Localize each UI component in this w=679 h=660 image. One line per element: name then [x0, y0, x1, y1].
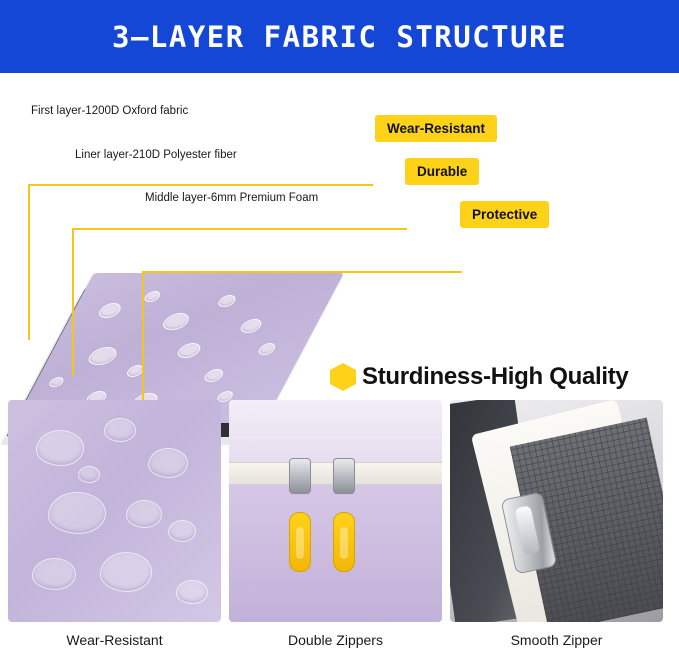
gallery-card-smooth-zipper: Smooth Zipper — [450, 400, 663, 660]
leader-line-2-vertical — [72, 228, 74, 376]
sturdiness-text: Sturdiness-High Quality — [362, 363, 628, 391]
hero-section: First layer-1200D Oxford fabric Liner la… — [0, 73, 679, 393]
leader-line-3-horizontal — [142, 271, 462, 273]
gallery-caption-smooth-zipper: Smooth Zipper — [450, 622, 663, 648]
gallery-caption-wear-resistant: Wear-Resistant — [8, 622, 221, 648]
leader-line-1-vertical — [28, 184, 30, 340]
gallery-card-double-zippers: Double Zippers — [229, 400, 442, 660]
zipper-slider-left — [289, 458, 311, 494]
layer-label-middle: Middle layer-6mm Premium Foam — [145, 192, 318, 204]
gallery-caption-double-zippers: Double Zippers — [229, 622, 442, 648]
layer-label-first: First layer-1200D Oxford fabric — [31, 105, 188, 117]
callout-durable: Durable — [405, 158, 479, 185]
layer-label-liner: Liner layer-210D Polyester fiber — [75, 149, 237, 161]
leader-line-3-vertical — [142, 271, 144, 403]
page-title: 3—LAYER FABRIC STRUCTURE — [112, 20, 567, 54]
callout-protective: Protective — [460, 201, 549, 228]
callout-wear-resistant: Wear-Resistant — [375, 115, 497, 142]
zipper-pull-tab-left — [289, 512, 311, 572]
leader-line-1-horizontal — [28, 184, 373, 186]
sturdiness-tagline: Sturdiness-High Quality — [330, 363, 628, 391]
zipper-pull-tab-right — [333, 512, 355, 572]
zipper-slider-right — [333, 458, 355, 494]
feature-gallery: Wear-Resistant Double Zippers Smooth Zip… — [0, 400, 679, 660]
photo-double-zippers — [229, 400, 442, 622]
hexagon-badge-icon — [330, 363, 356, 391]
photo-water-droplets — [8, 400, 221, 622]
gallery-card-wear-resistant: Wear-Resistant — [8, 400, 221, 660]
leader-line-2-horizontal — [72, 228, 407, 230]
page-header: 3—LAYER FABRIC STRUCTURE — [0, 0, 679, 73]
photo-smooth-zipper — [450, 400, 663, 622]
